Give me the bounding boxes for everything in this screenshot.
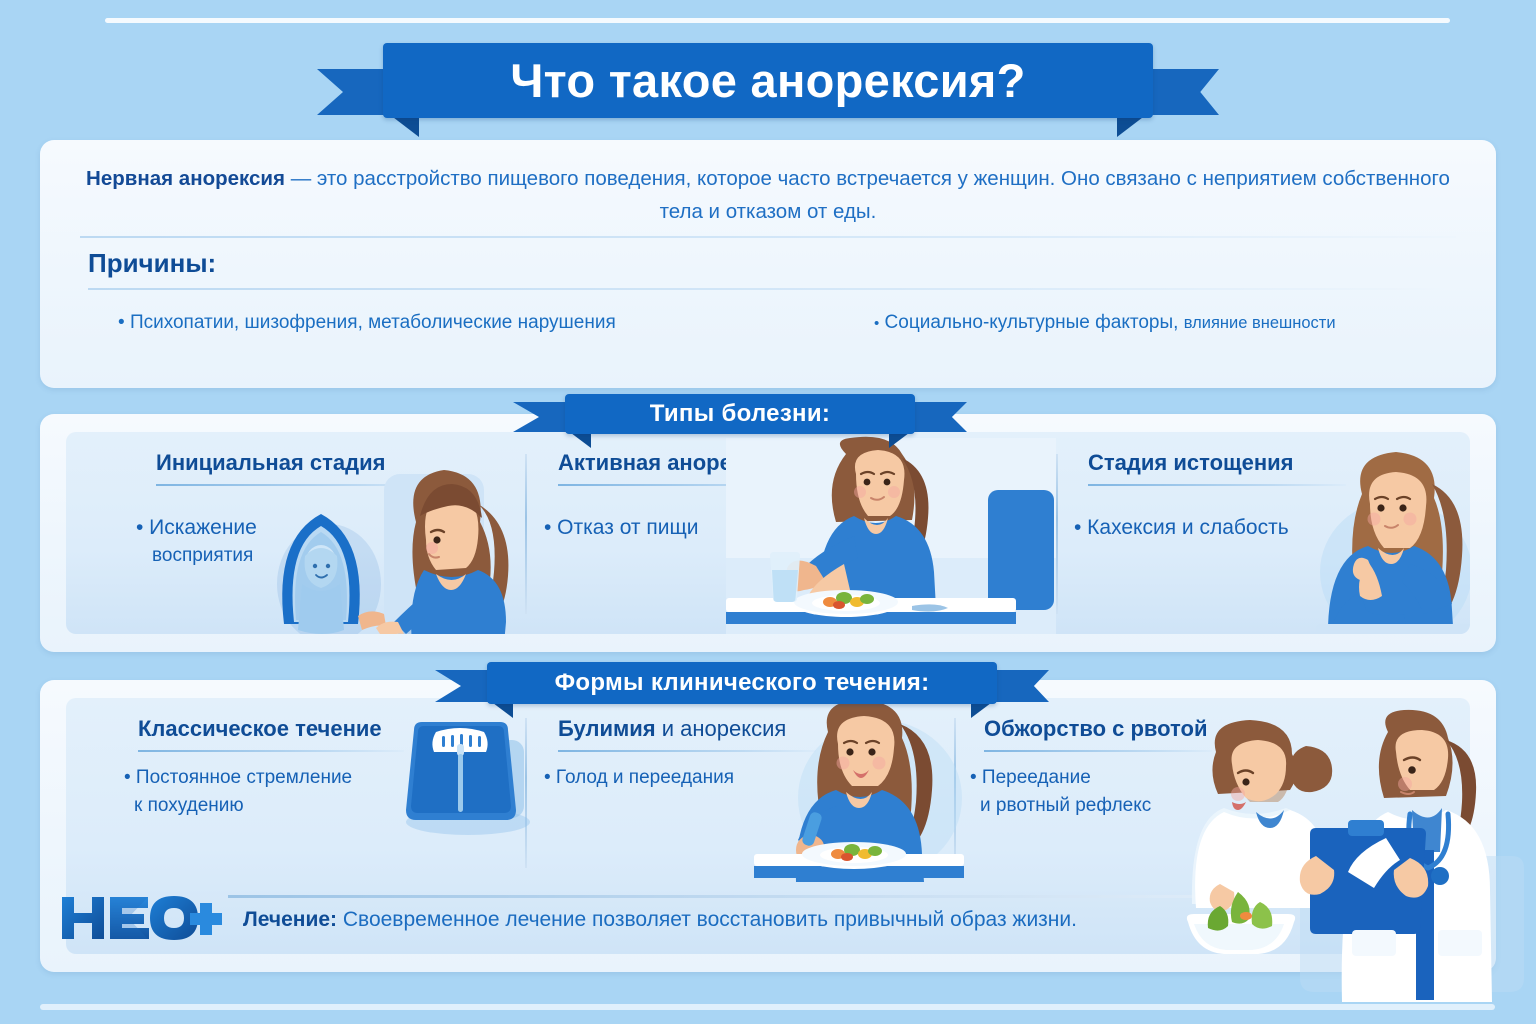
cause-item-1: • Психопатии, шизофрения, метаболические…: [118, 312, 616, 334]
intro-card: Нервная анорексия — это расстройство пищ…: [40, 140, 1496, 388]
causes-heading: Причины:: [88, 248, 216, 279]
types-banner-label: Типы болезни:: [650, 400, 830, 428]
cause-item-1-text: Психопатии, шизофрения, метаболические н…: [130, 312, 616, 333]
infographic-root: Что такое анорексия? Нервная анорексия —…: [0, 0, 1536, 1024]
intro-rule-bottom: [88, 288, 1456, 290]
illustration-girl-eating: [754, 702, 974, 882]
types-card: Инициальная стадия • Искажение восприяти…: [40, 414, 1496, 652]
forms-banner-plate: Формы клинического течения:: [487, 662, 997, 704]
forms-col-1-bullets: • Постоянное стремление к похудению: [124, 764, 352, 820]
illustration-vomiting-and-doctor: [1120, 716, 1520, 1006]
cause-item-2-subtext: влияние внешности: [1184, 314, 1336, 332]
treatment-text: Своевременное лечение позволяет восстано…: [337, 908, 1077, 931]
bullet-dot-icon: •: [118, 312, 125, 333]
cause-item-2-text: Социально-культурные факторы,: [885, 312, 1184, 333]
forms-col-2-bullet-main: • Голод и переедания: [544, 764, 734, 792]
forms-col-2-bullets: • Голод и переедания: [544, 764, 734, 792]
forms-col-2-heading: Булимия и анорексия: [558, 716, 786, 742]
cause-item-2: • Социально-культурные факторы, влияние …: [874, 312, 1336, 334]
intro-lead: Нервная анорексия: [86, 167, 285, 190]
illustration-bathroom-scale: [396, 718, 536, 838]
types-col-1-bullet-main: • Искажение: [136, 514, 257, 542]
types-col-3-heading: Стадия истощения: [1088, 450, 1293, 476]
types-banner-plate: Типы болезни:: [565, 394, 915, 434]
title-plate: Что такое анорексия?: [383, 43, 1153, 118]
forms-banner-label: Формы клинического течения:: [555, 669, 930, 697]
forms-col-1-bullet-sub: к похудению: [134, 792, 352, 820]
neo-plus-logo: [60, 893, 220, 943]
types-col-3-bullet-main: • Кахексия и слабость: [1074, 514, 1289, 542]
forms-col-1-heading-bold: Классическое течение: [138, 716, 382, 741]
types-col-2-bullet-main: • Отказ от пищи: [544, 514, 698, 542]
intro-rule-top: [80, 236, 1456, 238]
types-col-1-bullet-sub: восприятия: [152, 542, 257, 570]
forms-col-1-heading: Классическое течение: [138, 716, 382, 742]
types-panel: Инициальная стадия • Искажение восприяти…: [66, 432, 1470, 634]
forms-col-1-bullet-main: • Постоянное стремление: [124, 764, 352, 792]
treatment-note: Лечение: Своевременное лечение позволяет…: [243, 908, 1077, 932]
treatment-label: Лечение:: [243, 908, 337, 931]
forms-ribbon: Формы клинического течения:: [487, 662, 997, 704]
forms-col-1-rule: [138, 750, 404, 752]
types-col-3-bullets: • Кахексия и слабость: [1074, 514, 1289, 542]
types-col-2-bullets: • Отказ от пищи: [544, 514, 698, 542]
ribbon-tail-left-icon: [317, 69, 389, 115]
forms-col-2-heading-bold: Булимия: [558, 716, 656, 741]
title-ribbon: Что такое анорексия?: [383, 43, 1153, 118]
intro-paragraph: Нервная анорексия — это расстройство пищ…: [80, 162, 1456, 228]
types-col-1-bullets: • Искажение восприятия: [136, 514, 257, 570]
intro-body: — это расстройство пищевого поведения, к…: [285, 167, 1450, 223]
illustration-girl-refusing-food: [726, 438, 1056, 634]
bullet-dot-icon: •: [874, 315, 879, 332]
ribbon-tail-right-icon: [1147, 69, 1219, 115]
page-title: Что такое анорексия?: [510, 53, 1025, 108]
top-divider-rule: [105, 18, 1450, 23]
types-divider-2: [1056, 454, 1058, 614]
types-ribbon: Типы болезни:: [565, 394, 915, 434]
illustration-exhausted-girl: [1296, 442, 1470, 634]
illustration-girl-mirror: [266, 444, 536, 634]
